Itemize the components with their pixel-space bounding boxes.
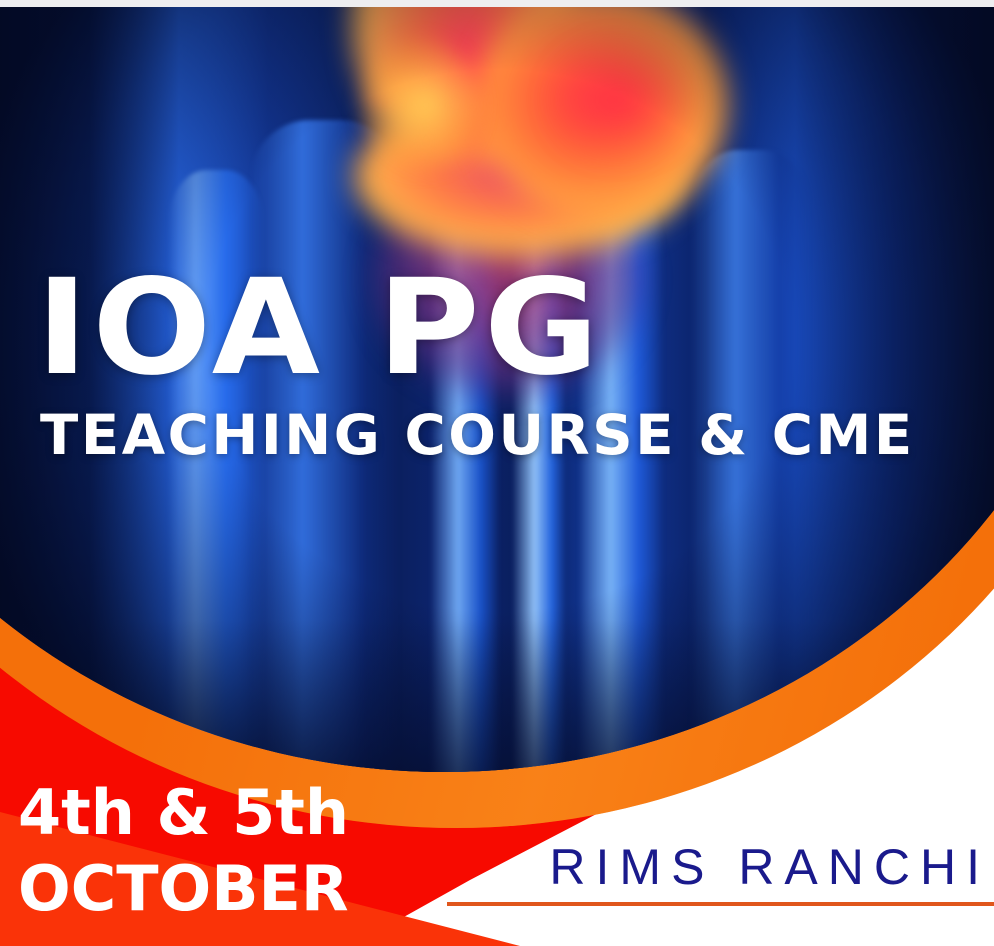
event-date-month: OCTOBER bbox=[18, 858, 349, 920]
page-subtitle: TEACHING COURSE & CME bbox=[40, 408, 915, 463]
event-poster: IOA PG TEACHING COURSE & CME 4th & 5th O… bbox=[0, 0, 994, 946]
page-title: IOA PG bbox=[36, 262, 949, 394]
venue-underline-rule bbox=[447, 902, 994, 906]
venue-name: RIMS RANCHI bbox=[447, 838, 994, 896]
venue-block: RIMS RANCHI bbox=[447, 838, 994, 906]
headline-block: IOA PG TEACHING COURSE & CME bbox=[36, 262, 898, 463]
event-date-days: 4th & 5th bbox=[18, 782, 349, 844]
artwork-bottom-fade bbox=[0, 620, 994, 772]
event-date-block: 4th & 5th OCTOBER bbox=[18, 782, 349, 920]
top-edge-strip bbox=[0, 0, 994, 7]
